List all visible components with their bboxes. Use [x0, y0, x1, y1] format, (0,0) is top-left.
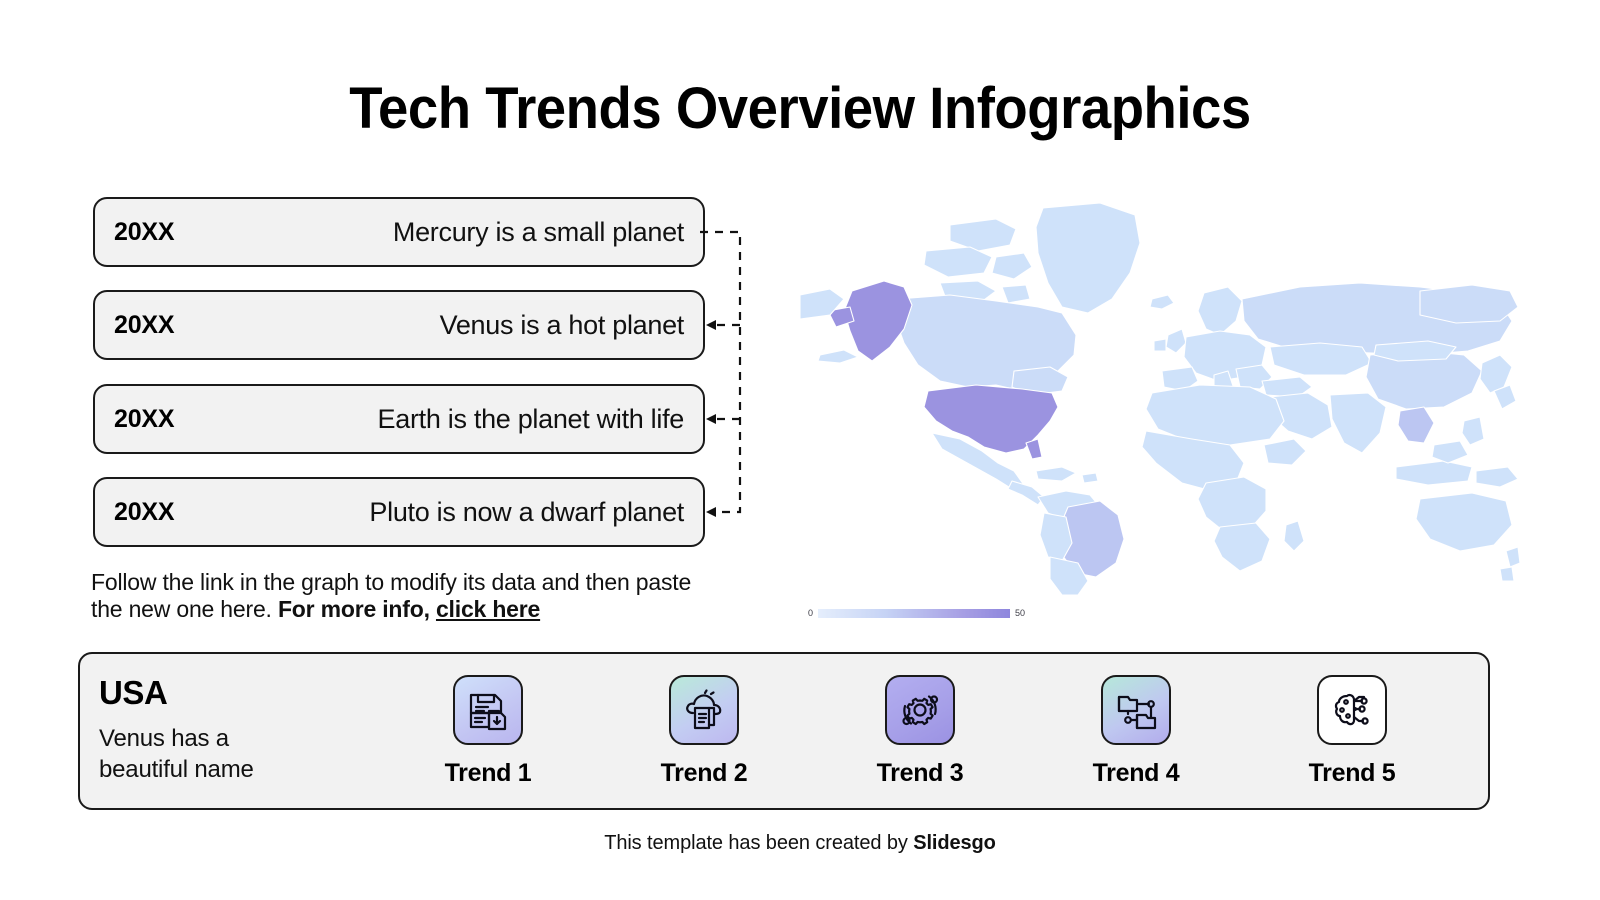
- trend-label: Trend 1: [445, 759, 532, 788]
- country-subtitle: Venus has a beautiful name: [99, 724, 289, 785]
- country-title: USA: [99, 676, 380, 709]
- region-arctic-islands: [950, 219, 1016, 251]
- country-block: USA Venus has a beautiful name: [80, 676, 380, 785]
- region-central-america: [1008, 481, 1044, 505]
- timeline-text: Pluto is now a dwarf planet: [174, 497, 684, 528]
- legend-gradient-bar: [818, 609, 1010, 618]
- trend-label: Trend 2: [661, 759, 748, 788]
- ai-brain-circuit-icon: [1317, 675, 1387, 745]
- footer-credit: This template has been created by Slides…: [0, 832, 1600, 855]
- footer-brand: Slidesgo: [913, 832, 996, 854]
- trend-label: Trend 5: [1309, 759, 1396, 788]
- slide-canvas: Tech Trends Overview Infographics 20XX M…: [0, 0, 1600, 900]
- timeline-year: 20XX: [114, 218, 174, 247]
- trend-label: Trend 4: [1093, 759, 1180, 788]
- region-southern-africa: [1214, 523, 1270, 571]
- timeline-year: 20XX: [114, 311, 174, 340]
- region-kazakhstan: [1270, 343, 1372, 375]
- region-caribbean: [1036, 467, 1076, 481]
- region-new-guinea: [1476, 467, 1518, 487]
- timeline-connector: [700, 190, 760, 530]
- region-greenland: [1036, 203, 1140, 313]
- region-new-zealand: [1500, 567, 1514, 581]
- trend-item-1[interactable]: Trend 1: [403, 675, 573, 788]
- trend-item-4[interactable]: Trend 4: [1051, 675, 1221, 788]
- folder-network-icon: [1101, 675, 1171, 745]
- timeline-text: Mercury is a small planet: [174, 217, 684, 248]
- region-caribbean: [1082, 473, 1098, 483]
- trend-item-5[interactable]: Trend 5: [1267, 675, 1437, 788]
- timeline-row[interactable]: 20XX Earth is the planet with life: [93, 384, 705, 454]
- timeline-list: 20XX Mercury is a small planet 20XX Venu…: [93, 197, 705, 547]
- legend-min-label: 0: [808, 608, 813, 618]
- trend-item-2[interactable]: Trend 2: [619, 675, 789, 788]
- timeline-text: Earth is the planet with life: [174, 404, 684, 435]
- cloud-documents-icon: [669, 675, 739, 745]
- region-iceland: [1150, 295, 1174, 309]
- caption-line-1: Follow the link in the graph to modify i…: [91, 569, 630, 595]
- timeline-row[interactable]: 20XX Venus is a hot planet: [93, 290, 705, 360]
- region-arctic-islands: [992, 253, 1032, 279]
- region-siberia-east: [1420, 285, 1518, 323]
- region-arctic-islands: [1002, 285, 1030, 303]
- caption-link[interactable]: click here: [436, 596, 540, 622]
- region-india: [1330, 393, 1386, 453]
- world-map[interactable]: 0 50: [800, 195, 1520, 620]
- country-subtitle-line-1: Venus has a: [99, 725, 229, 752]
- bottom-panel: USA Venus has a beautiful name: [78, 652, 1490, 810]
- timeline-text: Venus is a hot planet: [174, 310, 684, 341]
- gear-orbit-icon: [885, 675, 955, 745]
- footer-text: This template has been created by: [604, 832, 908, 854]
- map-legend: 0 50: [808, 608, 1025, 618]
- timeline-year: 20XX: [114, 498, 174, 527]
- region-scandinavia: [1198, 287, 1242, 335]
- trend-row: Trend 1 Trend 2: [380, 675, 1488, 788]
- region-new-zealand: [1506, 547, 1520, 567]
- region-indochina: [1398, 407, 1434, 443]
- region-madagascar: [1284, 521, 1304, 551]
- region-borneo: [1432, 441, 1468, 463]
- caption-text: Follow the link in the graph to modify i…: [91, 569, 716, 623]
- region-uk: [1166, 329, 1186, 353]
- caption-bold: For more info,: [278, 596, 430, 622]
- country-subtitle-line-2: beautiful name: [99, 756, 254, 783]
- region-usa-florida: [1026, 439, 1042, 459]
- region-horn-africa: [1264, 439, 1306, 465]
- trend-label: Trend 3: [877, 759, 964, 788]
- legend-max-label: 50: [1015, 608, 1025, 618]
- timeline-row[interactable]: 20XX Pluto is now a dwarf planet: [93, 477, 705, 547]
- region-philippines: [1462, 417, 1484, 445]
- trend-item-3[interactable]: Trend 3: [835, 675, 1005, 788]
- region-aleutians: [818, 350, 858, 363]
- region-ireland: [1154, 339, 1166, 351]
- region-arctic-islands: [924, 247, 992, 277]
- region-indonesia: [1396, 461, 1472, 485]
- timeline-year: 20XX: [114, 405, 174, 434]
- region-australia: [1416, 493, 1512, 551]
- region-mongolia: [1374, 341, 1456, 361]
- file-download-icon: [453, 675, 523, 745]
- timeline-row[interactable]: 20XX Mercury is a small planet: [93, 197, 705, 267]
- world-map-svg: [800, 195, 1520, 595]
- page-title: Tech Trends Overview Infographics: [48, 80, 1552, 138]
